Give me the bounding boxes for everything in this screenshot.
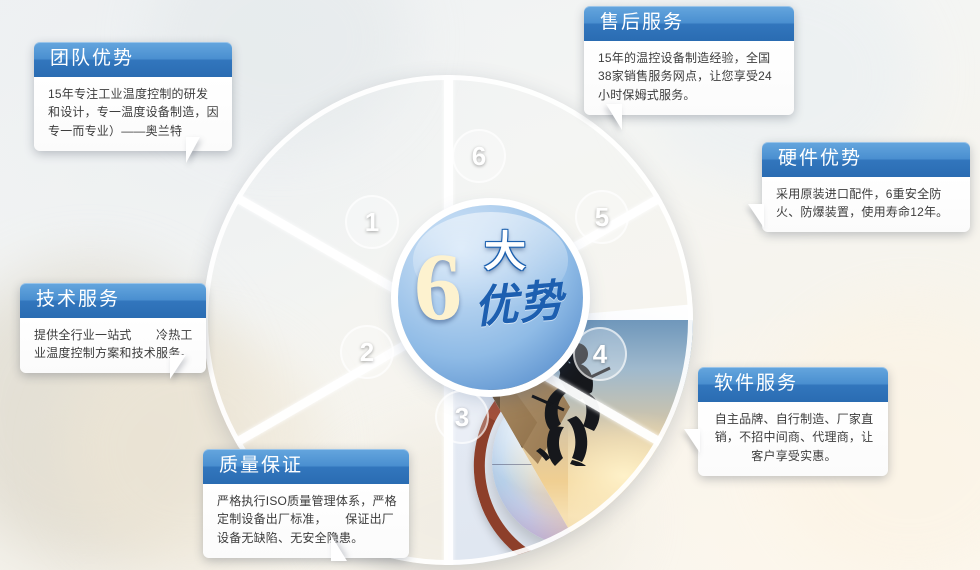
card-title-team: 团队优势: [34, 42, 232, 77]
callout-tail: [748, 204, 764, 228]
callout-card-after-sales[interactable]: 售后服务 15年的温控设备制造经验，全国38家销售服务网点，让您享受24小时保姆…: [584, 6, 794, 115]
callout-tail: [170, 355, 186, 379]
center-script-word: 优势: [472, 279, 565, 331]
card-title-hardware: 硬件优势: [762, 142, 970, 177]
card-body-team: 15年专注工业温度控制的研发和设计，专一温度设备制造，因专一而专业）——奥兰特: [34, 77, 232, 151]
segment-number-2[interactable]: 2: [340, 325, 394, 379]
card-body-software: 自主品牌、自行制造、厂家直销，不招中间商、代理商，让客户享受实惠。: [698, 402, 888, 476]
callout-tail: [684, 429, 700, 453]
segment-number-3[interactable]: 3: [435, 390, 489, 444]
segment-number-4[interactable]: 4: [573, 327, 627, 381]
callout-tail: [606, 104, 622, 130]
center-number: 6: [414, 239, 462, 335]
center-badge: 6 大 优势: [398, 205, 583, 390]
callout-tail: [186, 137, 200, 163]
infographic-canvas: STOCK MARKET DATA INTC 440.96: [0, 0, 980, 570]
card-body-quality: 严格执行ISO质量管理体系，严格定制设备出厂标准， 保证出厂设备无缺陷、无安全隐…: [203, 484, 409, 558]
callout-tail: [331, 535, 347, 561]
callout-card-quality[interactable]: 质量保证 严格执行ISO质量管理体系，严格定制设备出厂标准， 保证出厂设备无缺陷…: [203, 449, 409, 558]
segment-number-1[interactable]: 1: [345, 195, 399, 249]
callout-card-hardware[interactable]: 硬件优势 采用原装进口配件，6重安全防火、防爆装置，使用寿命12年。: [762, 142, 970, 232]
card-title-software: 软件服务: [698, 367, 888, 402]
card-title-after-sales: 售后服务: [584, 6, 794, 41]
callout-card-tech[interactable]: 技术服务 提供全行业一站式 冷热工业温度控制方案和技术服务。: [20, 283, 206, 373]
card-body-hardware: 采用原装进口配件，6重安全防火、防爆装置，使用寿命12年。: [762, 177, 970, 232]
center-big-word: 大: [484, 231, 526, 273]
callout-card-team[interactable]: 团队优势 15年专注工业温度控制的研发和设计，专一温度设备制造，因专一而专业）—…: [34, 42, 232, 151]
card-title-tech: 技术服务: [20, 283, 206, 318]
card-title-quality: 质量保证: [203, 449, 409, 484]
segment-number-5[interactable]: 5: [575, 190, 629, 244]
segment-number-6[interactable]: 6: [452, 129, 506, 183]
callout-card-software[interactable]: 软件服务 自主品牌、自行制造、厂家直销，不招中间商、代理商，让客户享受实惠。: [698, 367, 888, 476]
